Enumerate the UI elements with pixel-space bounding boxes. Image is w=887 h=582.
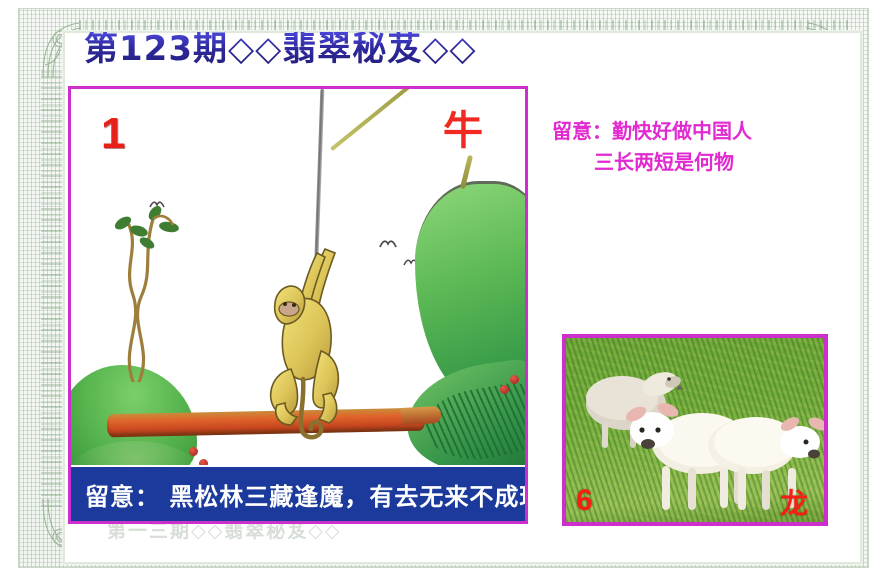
note-line-2: 三长两短是何物 bbox=[552, 147, 828, 178]
photo-zodiac-label: 龙 bbox=[780, 490, 808, 518]
illustration-zodiac-label: 牛 bbox=[443, 111, 483, 151]
poster-page: 第一三期◇◇翡翠秘芨◇◇ 第123期◇◇翡翠秘芨◇◇ bbox=[0, 0, 887, 582]
sheep-photo-card: 6 龙 bbox=[562, 334, 828, 526]
bird-icon bbox=[379, 239, 397, 252]
main-illustration-card: 1 牛 留意： 黑松林三藏逢魔，有去无来不成理。 bbox=[68, 86, 528, 524]
berry-icon bbox=[500, 385, 509, 394]
photo-number-label: 6 bbox=[576, 484, 593, 518]
note-line-1: 留意：勤快好做中国人 bbox=[552, 119, 752, 143]
berry-icon bbox=[189, 447, 198, 456]
right-column: 留意：勤快好做中国人 三长两短是何物 bbox=[552, 86, 828, 524]
cliff-stem-graphic bbox=[330, 89, 418, 151]
monkey-graphic bbox=[247, 247, 367, 443]
bottom-banner: 留意： 黑松林三藏逢魔，有去无来不成理。 bbox=[71, 465, 525, 521]
illustration-number-label: 1 bbox=[101, 109, 125, 159]
berry-icon bbox=[510, 375, 519, 384]
branch-tip-graphic bbox=[401, 406, 442, 425]
note-text-block: 留意：勤快好做中国人 三长两短是何物 bbox=[552, 116, 828, 178]
content-area: 第123期◇◇翡翠秘芨◇◇ bbox=[60, 24, 830, 524]
sheep-graphic bbox=[704, 402, 828, 518]
sheep-photo: 6 龙 bbox=[566, 338, 824, 522]
banner-text: 留意： 黑松林三藏逢魔，有去无来不成理。 bbox=[85, 477, 528, 512]
illustration-scene: 1 牛 bbox=[71, 89, 525, 521]
page-title: 第123期◇◇翡翠秘芨◇◇ bbox=[84, 32, 477, 66]
vine-graphic bbox=[99, 197, 191, 382]
